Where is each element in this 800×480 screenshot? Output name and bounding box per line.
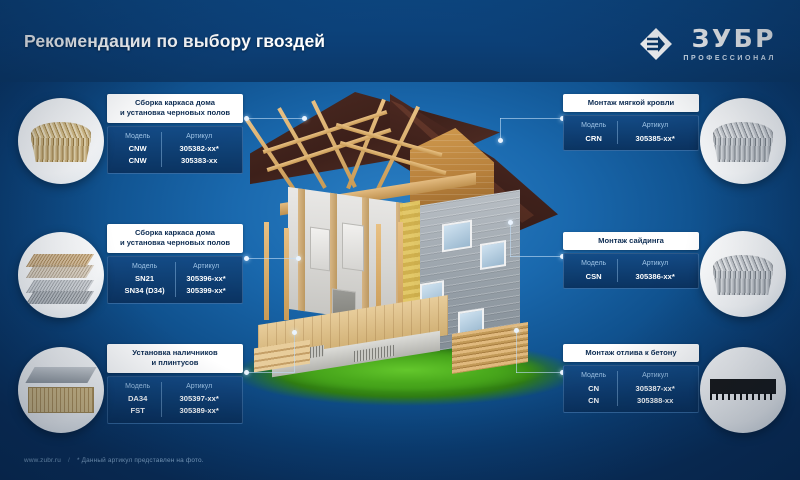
card-soft-roofing[interactable]: Монтаж мягкой кровли Модель Артикул CRN …	[563, 94, 699, 151]
card-title-line1: Монтаж отлива к бетону	[568, 348, 694, 358]
card-title: Сборка каркаса дома и установка черновых…	[107, 94, 243, 123]
cell-model: CRN	[570, 132, 618, 144]
card-title-line1: Монтаж мягкой кровли	[568, 98, 694, 108]
thumb-coil-nails-gold[interactable]	[18, 98, 104, 184]
coil-nails-shanks	[31, 138, 91, 162]
col-model: Модель	[570, 259, 618, 270]
footer-separator: /	[68, 457, 70, 464]
thumb-coil-roofing-nails[interactable]	[700, 98, 786, 184]
table-row: CN 305387-xx*	[570, 382, 692, 394]
table-row: CRN 305385-xx*	[570, 132, 692, 144]
table-row: CN 305388-xx	[570, 394, 692, 406]
card-frame-assembly-2[interactable]: Сборка каркаса дома и установка черновых…	[107, 224, 243, 304]
col-article: Артикул	[176, 262, 236, 273]
cell-model: CN	[570, 382, 618, 394]
thumb-strip-nails[interactable]	[18, 232, 104, 318]
card-table: Модель Артикул CNW 305382-xx* CNW 305383…	[107, 126, 243, 174]
cell-article: 305382-xx*	[162, 143, 236, 155]
table-row: CNW 305383-xx	[114, 155, 236, 167]
finish-nails-pack	[28, 387, 94, 413]
thumb-coil-siding-nails[interactable]	[700, 231, 786, 317]
table-row: CNW 305382-xx*	[114, 143, 236, 155]
brand-logo: ЗУБР ПРОФЕССИОНАЛ	[638, 26, 776, 62]
interior-door-2	[310, 227, 330, 272]
zubr-diamond-icon	[638, 26, 674, 62]
concrete-nails-icon	[710, 379, 776, 394]
window-upper	[442, 220, 472, 253]
strip-nails-row	[26, 265, 94, 278]
card-trim-installation[interactable]: Установка наличников и плинтусов Модель …	[107, 344, 243, 424]
frame-post	[284, 228, 289, 320]
col-model: Модель	[570, 121, 618, 132]
footer-site[interactable]: www.zubr.ru	[24, 457, 61, 464]
card-siding[interactable]: Монтаж сайдинга Модель Артикул CSN 30538…	[563, 232, 699, 289]
card-title-line1: Сборка каркаса дома	[112, 98, 238, 108]
cell-article: 305385-xx*	[618, 132, 692, 144]
col-article: Артикул	[618, 259, 692, 270]
col-model: Модель	[570, 371, 618, 382]
col-article: Артикул	[618, 371, 692, 382]
cell-article: 305399-xx*	[176, 285, 236, 297]
col-model: Модель	[114, 262, 176, 273]
cell-model: SN21	[114, 273, 176, 285]
cell-article: 305387-xx*	[618, 382, 692, 394]
card-table: Модель Артикул CRN 305385-xx*	[563, 115, 699, 151]
col-model: Модель	[114, 382, 162, 393]
table-row: SN21 305396-xx*	[114, 273, 236, 285]
card-title-line2: и установка черновых полов	[112, 238, 238, 248]
cell-article: 305386-xx*	[618, 270, 692, 282]
card-table: Модель Артикул CSN 305386-xx*	[563, 253, 699, 289]
cell-model: CSN	[570, 270, 618, 282]
card-title-line2: и плинтусов	[112, 358, 238, 368]
card-title-line1: Монтаж сайдинга	[568, 236, 694, 246]
poster-root: Рекомендации по выбору гвоздей ЗУБР ПРОФ…	[0, 0, 800, 480]
card-title: Установка наличников и плинтусов	[107, 344, 243, 373]
cell-article: 305397-xx*	[162, 393, 236, 405]
card-title-line1: Установка наличников	[112, 348, 238, 358]
col-model: Модель	[114, 132, 162, 143]
coil-nails-shanks	[713, 271, 773, 295]
footer-note: * Данный артикул представлен на фото.	[77, 457, 204, 464]
cell-article: 305389-xx*	[162, 405, 236, 417]
table-row: FST 305389-xx*	[114, 405, 236, 417]
card-title-line1: Сборка каркаса дома	[112, 228, 238, 238]
card-concrete-flashing[interactable]: Монтаж отлива к бетону Модель Артикул CN…	[563, 344, 699, 413]
brand-name: ЗУБР	[692, 26, 776, 51]
thumb-finish-nails[interactable]	[18, 347, 104, 433]
house-cutaway-illustration	[214, 72, 594, 432]
brand-tagline: ПРОФЕССИОНАЛ	[683, 55, 776, 62]
strip-nails-row	[26, 291, 94, 304]
interior-door	[342, 222, 364, 271]
table-row: DA34 305397-xx*	[114, 393, 236, 405]
card-title: Монтаж мягкой кровли	[563, 94, 699, 112]
cell-article: 305383-xx	[162, 155, 236, 167]
coil-nails-shanks	[713, 138, 773, 162]
cell-model: CNW	[114, 155, 162, 167]
card-title: Сборка каркаса дома и установка черновых…	[107, 224, 243, 253]
window-upper-right	[480, 240, 506, 270]
footer: www.zubr.ru / * Данный артикул представл…	[24, 457, 204, 464]
concrete-nails-pins	[710, 393, 776, 413]
col-article: Артикул	[618, 121, 692, 132]
finish-nails-icon	[25, 367, 96, 383]
corner-post	[264, 222, 269, 320]
card-frame-assembly-1[interactable]: Сборка каркаса дома и установка черновых…	[107, 94, 243, 174]
card-table: Модель Артикул SN21 305396-xx* SN34 (D34…	[107, 256, 243, 304]
table-row: CSN 305386-xx*	[570, 270, 692, 282]
cell-model: FST	[114, 405, 162, 417]
col-article: Артикул	[162, 132, 236, 143]
thumb-concrete-nails[interactable]	[700, 347, 786, 433]
card-table: Модель Артикул DA34 305397-xx* FST 30538…	[107, 376, 243, 424]
cell-model: CN	[570, 394, 618, 406]
card-title-line2: и установка черновых полов	[112, 108, 238, 118]
cell-article: 305396-xx*	[176, 273, 236, 285]
card-title: Монтаж отлива к бетону	[563, 344, 699, 362]
cell-article: 305388-xx	[618, 394, 692, 406]
page-title: Рекомендации по выбору гвоздей	[24, 31, 325, 52]
cell-model: DA34	[114, 393, 162, 405]
card-table: Модель Артикул CN 305387-xx* CN 305388-x…	[563, 365, 699, 413]
table-row: SN34 (D34) 305399-xx*	[114, 285, 236, 297]
cell-model: CNW	[114, 143, 162, 155]
col-article: Артикул	[162, 382, 236, 393]
cell-model: SN34 (D34)	[114, 285, 176, 297]
card-title: Монтаж сайдинга	[563, 232, 699, 250]
